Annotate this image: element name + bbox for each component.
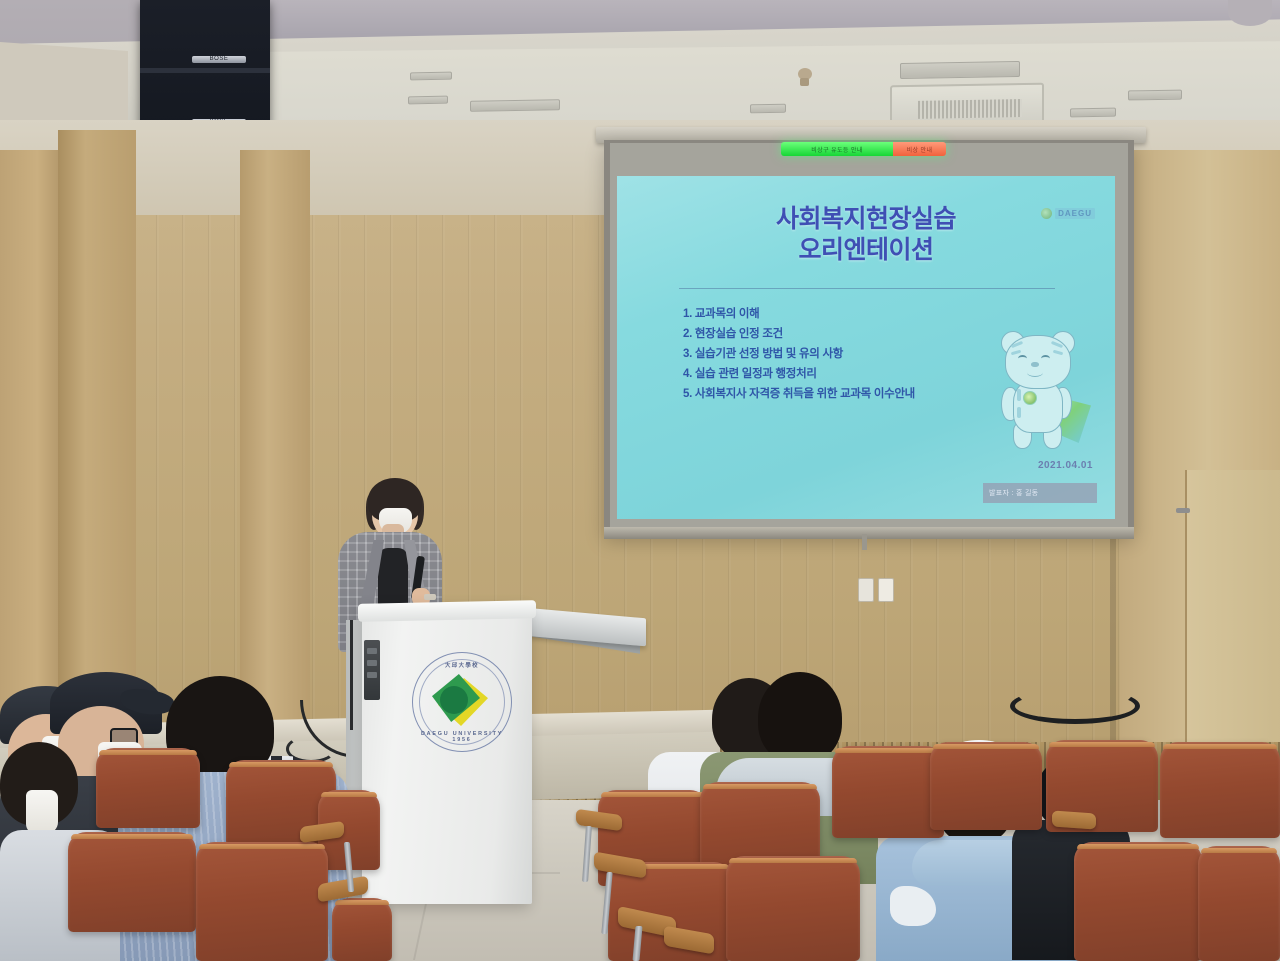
linear-diffuser-2 [470, 99, 560, 112]
seat[interactable] [332, 898, 392, 961]
slide-title-line2: 오리엔테이션 [617, 235, 1115, 266]
podium-mic-stand [350, 620, 353, 730]
slide-agenda-item: 1. 교과목의 이해 [683, 304, 1113, 324]
linear-diffuser-1 [900, 61, 1020, 79]
seat[interactable] [1160, 742, 1280, 838]
exit-sign-green-section: 비상구 유도등 안내 [781, 142, 893, 156]
head [758, 672, 842, 764]
slide-presenter-text: 발표자 : 홍 길동 [989, 488, 1038, 498]
slide-presenter-bar: 발표자 : 홍 길동 [983, 483, 1097, 503]
exit-sign-red-section: 비상 안내 [893, 142, 946, 156]
linear-diffuser-6 [408, 96, 448, 105]
emblem-dark-green-disc [440, 686, 468, 714]
daegu-university-emblem: 大邱大學校 DAEGU UNIVERSITY 1956 [412, 652, 512, 752]
screen-pull-tab[interactable] [862, 534, 867, 550]
mascot-chest-emblem [1023, 391, 1037, 405]
mascot-eye-right [1041, 355, 1050, 362]
presentation-slide: DAEGU 사회복지현장실습 오리엔테이션 1. 교과목의 이해 2. 현장실습… [617, 176, 1115, 519]
linear-diffuser-3 [1128, 90, 1182, 101]
ceiling-light-fixture [1228, 0, 1272, 26]
slide-title: 사회복지현장실습 오리엔테이션 [617, 204, 1115, 266]
podium-button[interactable] [367, 672, 377, 678]
podium-top-surface [358, 600, 536, 622]
seat[interactable] [96, 748, 200, 828]
armrest [1052, 810, 1096, 829]
presenter-wristwatch [424, 594, 436, 600]
slide-date: 2021.04.01 [1038, 460, 1093, 471]
light-switch-plate[interactable] [878, 578, 894, 602]
podium-control-panel[interactable] [364, 640, 380, 700]
floor-cable-coil [1010, 688, 1140, 724]
slide-title-line1: 사회복지현장실습 [617, 204, 1115, 235]
exit-sign-green-text: 비상구 유도등 안내 [781, 142, 893, 156]
emblem-graphic [432, 674, 492, 730]
mascot-stripe [1017, 389, 1021, 401]
seat[interactable] [1074, 842, 1202, 961]
seat[interactable] [68, 832, 196, 932]
podium-button[interactable] [367, 660, 377, 666]
exit-sign-red-text: 비상 안내 [893, 142, 946, 156]
side-door[interactable] [1185, 470, 1280, 770]
mascot-nose [1031, 362, 1039, 367]
podium-button[interactable] [367, 648, 377, 654]
white-tiger-mascot-icon [987, 329, 1093, 451]
face-mask [26, 790, 58, 834]
mascot-mouth [1027, 368, 1043, 377]
emblem-top-text: 大邱大學校 [412, 661, 512, 669]
mascot-stripe [1017, 407, 1021, 418]
auditorium-photo: BOSE BOSE DAEGU 사회복지현장실습 오리엔테이션 1. 교과목의 … [0, 0, 1280, 961]
seat[interactable] [832, 746, 944, 838]
linear-diffuser-4 [1070, 108, 1116, 118]
sprinkler-base [800, 78, 809, 86]
door-handle[interactable] [1176, 508, 1190, 513]
projector-screen-bottom-bar [604, 527, 1134, 539]
linear-diffuser-7 [750, 104, 786, 114]
power-outlet-plate[interactable] [858, 578, 874, 602]
emblem-bottom-text: DAEGU UNIVERSITY 1956 [412, 731, 512, 743]
bose-logo-upper: BOSE [192, 56, 246, 63]
slide-divider [679, 288, 1055, 289]
linear-diffuser-5 [410, 72, 452, 81]
mascot-eye-left [1018, 355, 1027, 362]
seat[interactable] [930, 742, 1042, 830]
seat[interactable] [196, 842, 328, 961]
emergency-exit-led-sign: 비상구 유도등 안내 비상 안내 [781, 142, 946, 156]
seat[interactable] [1198, 846, 1280, 961]
lectern-podium [362, 604, 532, 904]
speaker-seam [140, 68, 270, 73]
seat[interactable] [726, 856, 860, 961]
